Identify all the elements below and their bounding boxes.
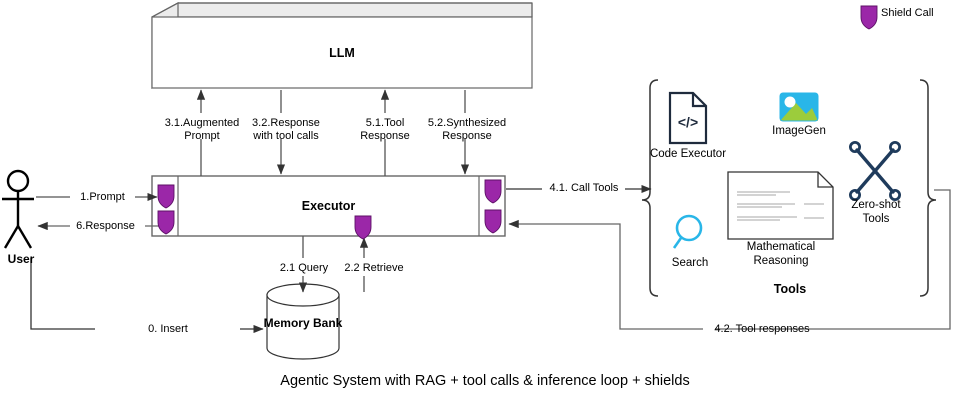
edge-insert <box>31 258 263 329</box>
diagram-canvas: </> <box>0 0 970 411</box>
user-figure[interactable] <box>2 171 34 248</box>
tool-label-zero-shot-tools: Zero-shot Tools <box>841 198 911 226</box>
llm-label-text: LLM <box>329 46 355 60</box>
memory-bank-label-text: Memory Bank <box>264 316 343 330</box>
svg-text:</>: </> <box>678 114 698 130</box>
edge-label-response: 6.Response <box>63 220 148 233</box>
crossed-wrenches-icon[interactable] <box>850 142 899 199</box>
magnifier-icon[interactable] <box>674 216 701 248</box>
tools-group-label-text: Tools <box>774 282 806 296</box>
tool-label-imagegen-text: ImageGen <box>772 125 826 137</box>
edge-label-tool-responses-text: 4.2. Tool responses <box>714 323 809 335</box>
memory-bank-label: Memory Bank <box>262 305 344 341</box>
code-document-icon[interactable]: </> <box>670 93 706 143</box>
tool-label-zeroshot-line1: Zero-shot <box>841 198 911 212</box>
tools-brace-right <box>920 80 936 296</box>
edge-label-call-tools: 4.1. Call Tools <box>540 182 628 195</box>
formula-document-icon[interactable] <box>728 172 833 239</box>
tool-label-code-executor-text: Code Executor <box>650 148 726 160</box>
tool-label-math-line1: Mathematical <box>727 240 835 254</box>
user-label-text: User <box>8 252 35 266</box>
edge-label-insert-text: 0. Insert <box>148 323 188 335</box>
edge-label-response-text: 6.Response <box>76 220 135 232</box>
user-label: User <box>0 253 42 266</box>
tool-label-mathematical-reasoning: Mathematical Reasoning <box>727 240 835 268</box>
edge-label-synthesized-response-line1: 5.2.Synthesized <box>408 117 526 130</box>
edge-label-synthesized-response: 5.2.Synthesized Response <box>408 117 526 143</box>
edge-label-tool-responses: 4.2. Tool responses <box>705 323 819 336</box>
edge-label-prompt-text: 1.Prompt <box>80 191 125 203</box>
image-picture-icon[interactable] <box>780 93 818 121</box>
edge-label-insert: 0. Insert <box>98 323 238 336</box>
tool-label-code-executor: Code Executor <box>638 147 738 161</box>
legend-shield-icon <box>861 6 877 29</box>
edge-label-response-with-tool-calls-line2: with tool calls <box>224 130 348 143</box>
tool-label-math-line2: Reasoning <box>727 254 835 268</box>
edge-label-query-text: 2.1 Query <box>280 262 328 274</box>
legend-label: Shield Call <box>881 7 934 19</box>
tool-label-imagegen: ImageGen <box>759 124 839 138</box>
legend-label-text: Shield Call <box>881 7 934 19</box>
edge-label-retrieve-text: 2.2 Retrieve <box>344 262 403 274</box>
tool-label-search: Search <box>655 256 725 270</box>
tool-label-zeroshot-line2: Tools <box>841 212 911 226</box>
executor-label-text: Executor <box>302 199 356 213</box>
llm-label: LLM <box>152 17 532 88</box>
tool-label-search-text: Search <box>672 257 708 269</box>
edge-label-call-tools-text: 4.1. Call Tools <box>550 182 619 194</box>
edge-label-prompt: 1.Prompt <box>65 191 140 204</box>
diagram-caption-text: Agentic System with RAG + tool calls & i… <box>280 373 689 389</box>
edge-label-response-with-tool-calls: 3.2.Response with tool calls <box>224 117 348 143</box>
edge-label-response-with-tool-calls-line1: 3.2.Response <box>224 117 348 130</box>
diagram-caption: Agentic System with RAG + tool calls & i… <box>0 373 970 389</box>
edge-label-synthesized-response-line2: Response <box>408 130 526 143</box>
executor-label: Executor <box>178 176 479 236</box>
tools-group-label: Tools <box>735 283 845 296</box>
edge-label-retrieve: 2.2 Retrieve <box>329 262 419 275</box>
